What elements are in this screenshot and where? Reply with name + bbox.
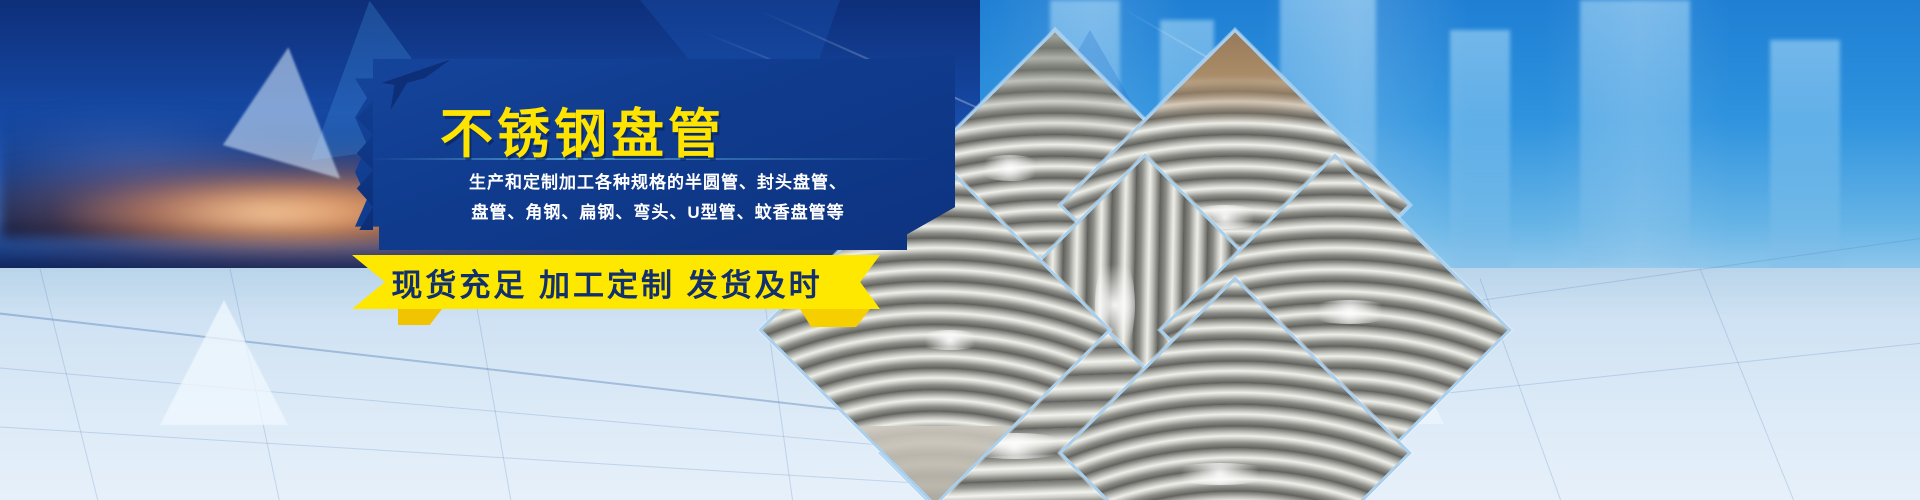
subtitle-line-1: 生产和定制加工各种规格的半圆管、封头盘管、 [398, 168, 918, 198]
paving-line [40, 268, 114, 500]
subtitle-block: 生产和定制加工各种规格的半圆管、封头盘管、 盘管、角钢、扁钢、弯头、U型管、蚊香… [398, 168, 918, 228]
ribbon-label: 现货充足 加工定制 发货及时 [352, 255, 862, 309]
page-title: 不锈钢盘管 [440, 92, 920, 168]
decor-triangle-highlight [160, 300, 288, 425]
product-photo-mosaic [1000, 0, 1920, 500]
product-hero-banner: 不锈钢盘管 生产和定制加工各种规格的半圆管、封头盘管、 盘管、角钢、扁钢、弯头、… [0, 0, 1920, 500]
subtitle-line-2: 盘管、角钢、扁钢、弯头、U型管、蚊香盘管等 [398, 198, 918, 228]
